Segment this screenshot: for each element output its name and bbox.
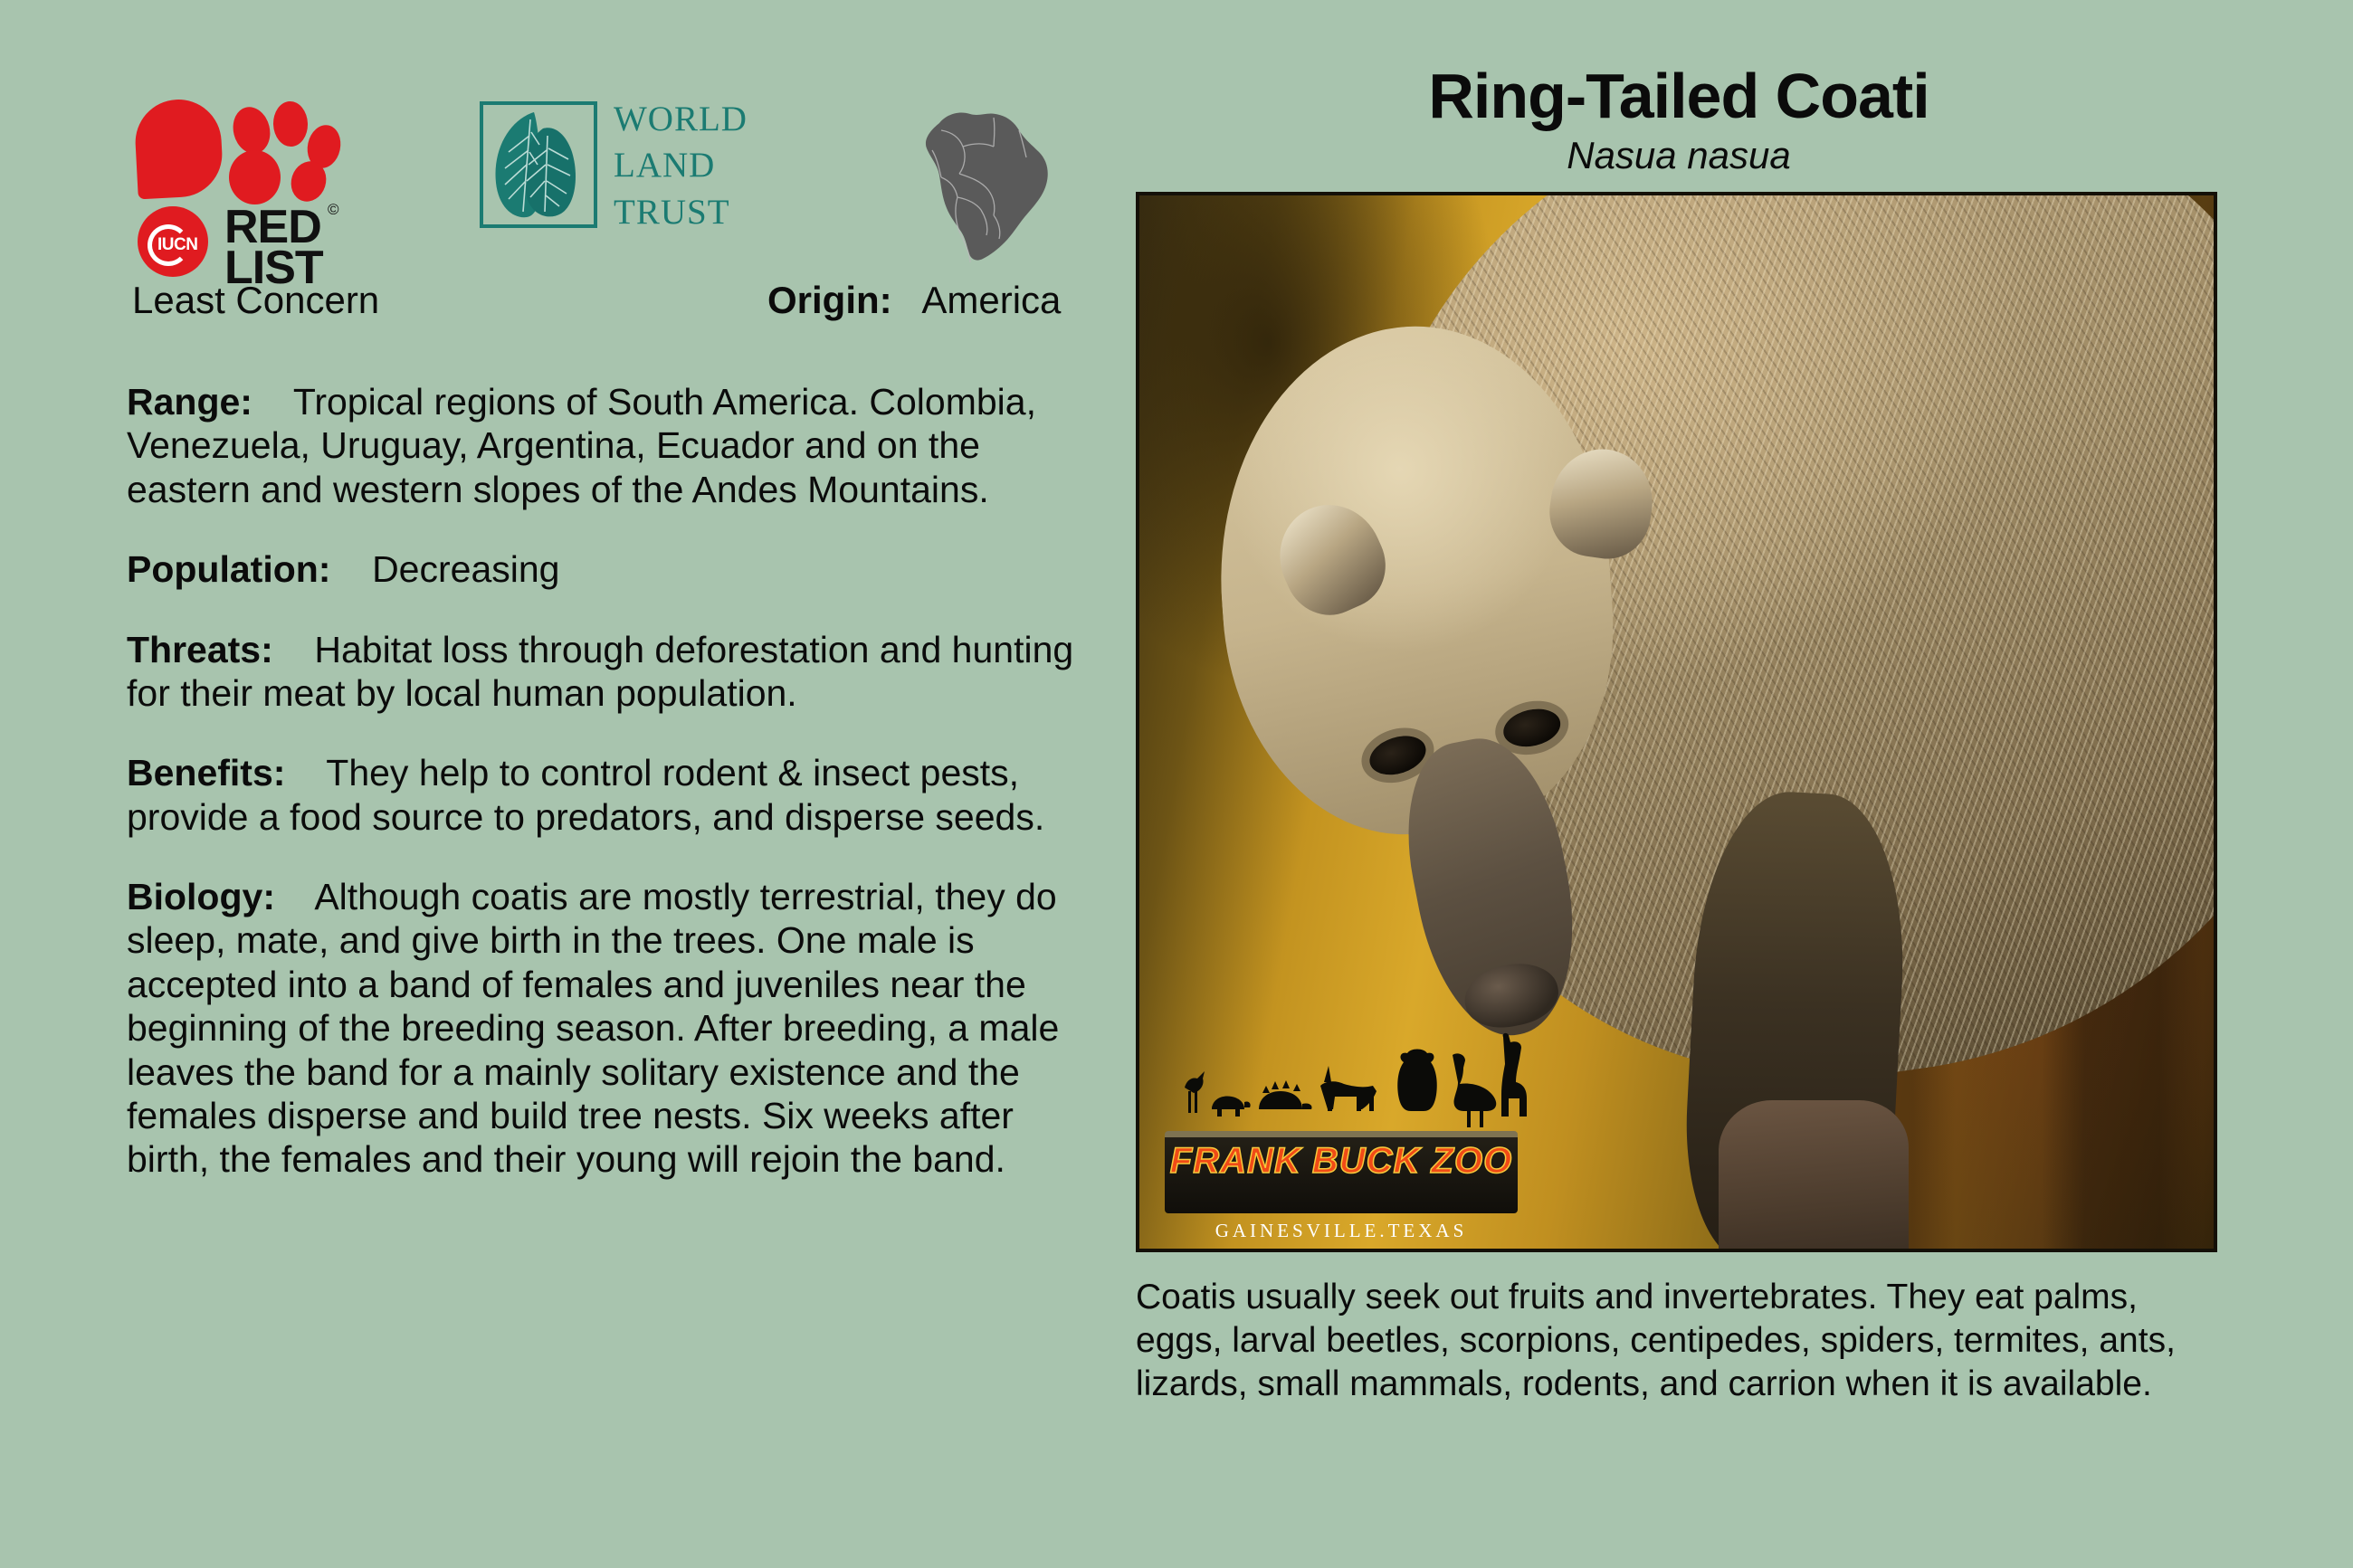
zoo-city: GAINESVILLE.TEXAS xyxy=(1165,1220,1518,1242)
giraffe-silhouette xyxy=(1501,1032,1527,1116)
antelope-silhouette xyxy=(1320,1066,1377,1111)
info-section-benefits: Benefits: They help to control rodent & … xyxy=(127,751,1100,839)
species-common-name: Ring-Tailed Coati xyxy=(1136,63,2222,130)
coati-ear-left xyxy=(1263,488,1400,628)
redlist-drop-shape xyxy=(133,98,224,200)
photo-caption: Coatis usually seek out fruits and inver… xyxy=(1136,1276,2222,1407)
section-label: Threats: xyxy=(127,629,273,670)
iucn-red-list-logo: IUCN RED LIST © xyxy=(136,100,344,271)
zoo-name: FRANK BUCK ZOO xyxy=(1165,1141,1518,1182)
left-info-column: IUCN RED LIST © xyxy=(127,90,1113,1218)
wlt-wordmark: WORLD LAND TRUST xyxy=(614,96,748,235)
wlt-line-trust: TRUST xyxy=(614,189,748,235)
copyright-mark: © xyxy=(328,201,339,219)
frank-buck-zoo-logo: FRANK BUCK ZOO GAINESVILLE.TEXAS xyxy=(1165,1031,1536,1203)
hedgehog-silhouette xyxy=(1259,1080,1312,1109)
section-text: Decreasing xyxy=(372,548,559,590)
info-sections: Range: Tropical regions of South America… xyxy=(127,380,1113,1182)
wlt-line-world: WORLD xyxy=(614,96,748,142)
origin-value: America xyxy=(921,279,1061,321)
ostrich-silhouette xyxy=(1453,1053,1496,1127)
species-scientific-name: Nasua nasua xyxy=(1136,134,2222,177)
wlt-leaf-frame xyxy=(480,101,597,228)
flamingo-silhouette xyxy=(1185,1071,1205,1113)
leaf-icon xyxy=(483,105,594,224)
section-label: Population: xyxy=(127,548,330,590)
tortoise-silhouette xyxy=(1212,1096,1251,1117)
south-america-map-icon xyxy=(905,90,1077,271)
iucn-circle-badge: IUCN xyxy=(138,206,208,277)
info-section-threats: Threats: Habitat loss through deforestat… xyxy=(127,628,1100,716)
origin-block: Origin: America xyxy=(767,279,1061,322)
wlt-line-land: LAND xyxy=(614,142,748,188)
logo-row: IUCN RED LIST © xyxy=(127,90,1113,271)
world-land-trust-logo: WORLD LAND TRUST xyxy=(480,101,778,264)
tree-branch xyxy=(1719,1100,1909,1252)
conservation-status-label: Least Concern xyxy=(132,279,379,322)
species-photo: FRANK BUCK ZOO GAINESVILLE.TEXAS xyxy=(1136,192,2217,1252)
status-row: Least Concern Origin: America xyxy=(127,279,1113,342)
section-text: Although coatis are mostly terrestrial, … xyxy=(127,876,1059,1180)
origin-label: Origin: xyxy=(767,279,892,321)
section-label: Biology: xyxy=(127,876,275,917)
info-section-population: Population: Decreasing xyxy=(127,547,1100,591)
zoo-animal-silhouettes xyxy=(1165,1031,1536,1131)
bear-silhouette xyxy=(1397,1049,1437,1111)
section-label: Range: xyxy=(127,381,252,423)
section-label: Benefits: xyxy=(127,752,285,794)
info-section-range: Range: Tropical regions of South America… xyxy=(127,380,1100,511)
redlist-paw-toe-icon xyxy=(228,103,274,157)
right-photo-column: Ring-Tailed Coati Nasua nasua xyxy=(1136,63,2222,1407)
redlist-paw-pad-icon xyxy=(229,150,281,204)
zoo-name-plaque: FRANK BUCK ZOO GAINESVILLE.TEXAS xyxy=(1165,1131,1518,1213)
coati-eye-right xyxy=(1500,703,1564,751)
redlist-paw-toe-icon xyxy=(272,100,309,147)
iucn-acronym: IUCN xyxy=(157,235,197,255)
info-section-biology: Biology: Although coatis are mostly terr… xyxy=(127,875,1100,1182)
